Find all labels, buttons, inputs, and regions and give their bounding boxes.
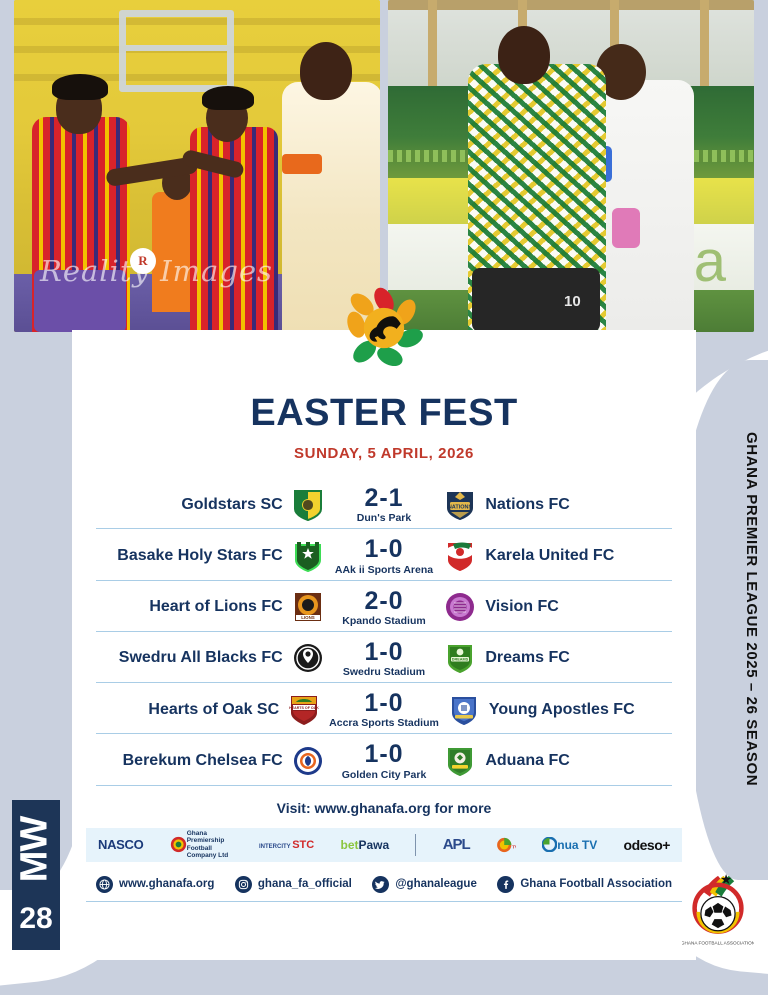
- svg-text:DREAMS: DREAMS: [452, 658, 469, 662]
- sponsor-divider: [415, 834, 416, 856]
- match-score: 1-0: [333, 536, 436, 562]
- sponsor-odeso[interactable]: odeso+: [624, 837, 670, 853]
- social-label-twitter: @ghanaleague: [395, 878, 477, 890]
- social-links-row: www.ghanafa.org ghana_fa_official @ghana…: [86, 870, 682, 902]
- event-date: SUNDAY, 5 APRIL, 2026: [72, 445, 696, 462]
- dreams-fc-crest-icon: DREAMS: [443, 641, 477, 675]
- sponsor-nasco[interactable]: NASCO: [98, 837, 143, 852]
- score-block: 1-0 Accra Sports Stadium: [329, 690, 439, 729]
- hearts-of-oak-crest-icon: HEARTS OF OAK: [287, 693, 321, 727]
- match-photo-right: 10: [388, 0, 754, 332]
- globe-icon: [96, 876, 113, 893]
- basake-holy-stars-crest-icon: [291, 539, 325, 573]
- match-venue: Golden City Park: [333, 769, 436, 781]
- sponsor-nuatv-label: nua TV: [557, 838, 597, 852]
- match-score: 2-0: [333, 588, 436, 614]
- watermark-badge-icon: R: [130, 248, 156, 274]
- score-block: 1-0 AAk ii Sports Arena: [333, 536, 436, 575]
- sponsor-stc[interactable]: INTERCITY STC: [259, 839, 314, 851]
- photo-strip: Reality Images R 10: [14, 0, 754, 332]
- gpfc-logo-icon: [170, 836, 187, 853]
- match-venue: Accra Sports Stadium: [329, 717, 439, 729]
- fixture-row[interactable]: Basake Holy Stars FC 1-0 AAk ii Sports A…: [96, 528, 672, 579]
- fixtures-card: EASTER FEST SUNDAY, 5 APRIL, 2026 Goldst…: [72, 330, 696, 960]
- facebook-icon: [497, 876, 514, 893]
- match-venue: Swedru Stadium: [333, 666, 436, 678]
- social-link-website[interactable]: www.ghanafa.org: [96, 876, 214, 893]
- sponsor-stc-label: INTERCITY STC: [259, 839, 314, 851]
- score-block: 2-0 Kpando Stadium: [333, 588, 436, 627]
- sponsor-tv3[interactable]: TV3: [496, 837, 516, 853]
- away-team-name: Young Apostles FC: [489, 701, 672, 719]
- visit-website-line[interactable]: Visit: www.ghanafa.org for more: [72, 800, 696, 816]
- nuatv-logo-icon: [542, 837, 557, 852]
- fixtures-list: Goldstars SC 2-1 Dun's Park NATIONS: [72, 478, 696, 786]
- swedru-all-blacks-crest-icon: [291, 641, 325, 675]
- berekum-chelsea-crest-icon: [291, 744, 325, 778]
- fixture-row[interactable]: Hearts of Oak SC HEARTS OF OAK 1-0 Accra…: [96, 682, 672, 733]
- league-season-vertical-label: GHANA PREMIER LEAGUE 2025 – 26 SEASON: [743, 432, 760, 786]
- home-team-name: Heart of Lions FC: [96, 598, 283, 616]
- nations-fc-crest-icon: NATIONS: [443, 488, 477, 522]
- home-team-name: Basake Holy Stars FC: [96, 547, 283, 565]
- vision-fc-crest-icon: [443, 590, 477, 624]
- match-venue: Kpando Stadium: [333, 615, 436, 627]
- sponsor-nuatv[interactable]: nua TV: [542, 837, 597, 852]
- sponsor-betpawa[interactable]: betPawa: [340, 838, 389, 852]
- sponsor-apl[interactable]: APL: [443, 836, 470, 853]
- home-team-name: Swedru All Blacks FC: [96, 649, 283, 667]
- match-venue: AAk ii Sports Arena: [333, 564, 436, 576]
- sponsor-betpawa-label: betPawa: [340, 838, 389, 852]
- away-team-name: Nations FC: [485, 496, 672, 514]
- svg-text:TV3: TV3: [512, 844, 516, 849]
- aduana-fc-crest-icon: [443, 744, 477, 778]
- fixture-row[interactable]: Swedru All Blacks FC 1-0 Swedru Stadium: [96, 631, 672, 682]
- score-block: 1-0 Golden City Park: [333, 741, 436, 780]
- instagram-icon: [235, 876, 252, 893]
- score-block: 1-0 Swedru Stadium: [333, 639, 436, 678]
- svg-text:HEARTS OF OAK: HEARTS OF OAK: [289, 706, 319, 710]
- away-team-name: Vision FC: [485, 598, 672, 616]
- sponsor-nasco-label: NASCO: [98, 837, 143, 852]
- fixture-row[interactable]: Berekum Chelsea FC 1-0 Golden City Park: [96, 733, 672, 784]
- away-team-name: Karela United FC: [485, 547, 672, 565]
- match-photo-left: Reality Images R: [14, 0, 380, 332]
- fixtures-bottom-rule: [96, 785, 672, 786]
- young-apostles-crest-icon: [447, 693, 481, 727]
- match-score: 2-1: [333, 485, 436, 511]
- match-score: 1-0: [333, 639, 436, 665]
- photo-watermark: Reality Images: [40, 254, 340, 288]
- gpl-eagle-crest-icon: [342, 286, 426, 370]
- sponsor-bar: NASCO Ghana Premiership Football Company…: [86, 828, 682, 862]
- heart-of-lions-crest-icon: LIONS: [291, 590, 325, 624]
- tv3-logo-icon: TV3: [496, 837, 516, 853]
- karela-united-crest-icon: [443, 539, 477, 573]
- social-label-website: www.ghanafa.org: [119, 878, 214, 890]
- away-team-name: Aduana FC: [485, 752, 672, 770]
- social-label-instagram: ghana_fa_official: [258, 878, 352, 890]
- matchweek-badge: MW 28: [12, 800, 60, 950]
- social-link-instagram[interactable]: ghana_fa_official: [235, 876, 352, 893]
- twitter-icon: [372, 876, 389, 893]
- social-link-facebook[interactable]: Ghana Football Association: [497, 876, 672, 893]
- home-team-name: Goldstars SC: [96, 496, 283, 514]
- matchweek-number: 28: [12, 902, 60, 936]
- matchweek-letters: MW: [14, 790, 57, 910]
- home-team-name: Berekum Chelsea FC: [96, 752, 283, 770]
- ghana-football-association-crest-icon: GHANA FOOTBALL ASSOCIATION: [682, 872, 754, 950]
- match-score: 1-0: [329, 690, 439, 716]
- fixture-row[interactable]: Goldstars SC 2-1 Dun's Park NATIONS: [96, 478, 672, 528]
- score-block: 2-1 Dun's Park: [333, 485, 436, 524]
- home-team-name: Hearts of Oak SC: [96, 701, 279, 719]
- sponsor-gpfc[interactable]: Ghana Premiership Football Company Ltd: [170, 830, 233, 859]
- sponsor-odeso-label: odeso+: [624, 837, 670, 853]
- social-link-twitter[interactable]: @ghanaleague: [372, 876, 477, 893]
- social-label-facebook: Ghana Football Association: [520, 878, 672, 890]
- svg-text:LIONS: LIONS: [301, 615, 314, 620]
- svg-text:NATIONS: NATIONS: [448, 504, 473, 510]
- match-venue: Dun's Park: [333, 512, 436, 524]
- sponsor-gpfc-label: Ghana Premiership Football Company Ltd: [187, 830, 233, 859]
- sponsor-apl-label: APL: [443, 836, 470, 853]
- gfa-crest-text: GHANA FOOTBALL ASSOCIATION: [682, 940, 754, 945]
- fixture-row[interactable]: Heart of Lions FC LIONS 2-0 Kpando Stadi…: [96, 580, 672, 631]
- goldstars-sc-crest-icon: [291, 488, 325, 522]
- away-team-name: Dreams FC: [485, 649, 672, 667]
- match-score: 1-0: [333, 741, 436, 767]
